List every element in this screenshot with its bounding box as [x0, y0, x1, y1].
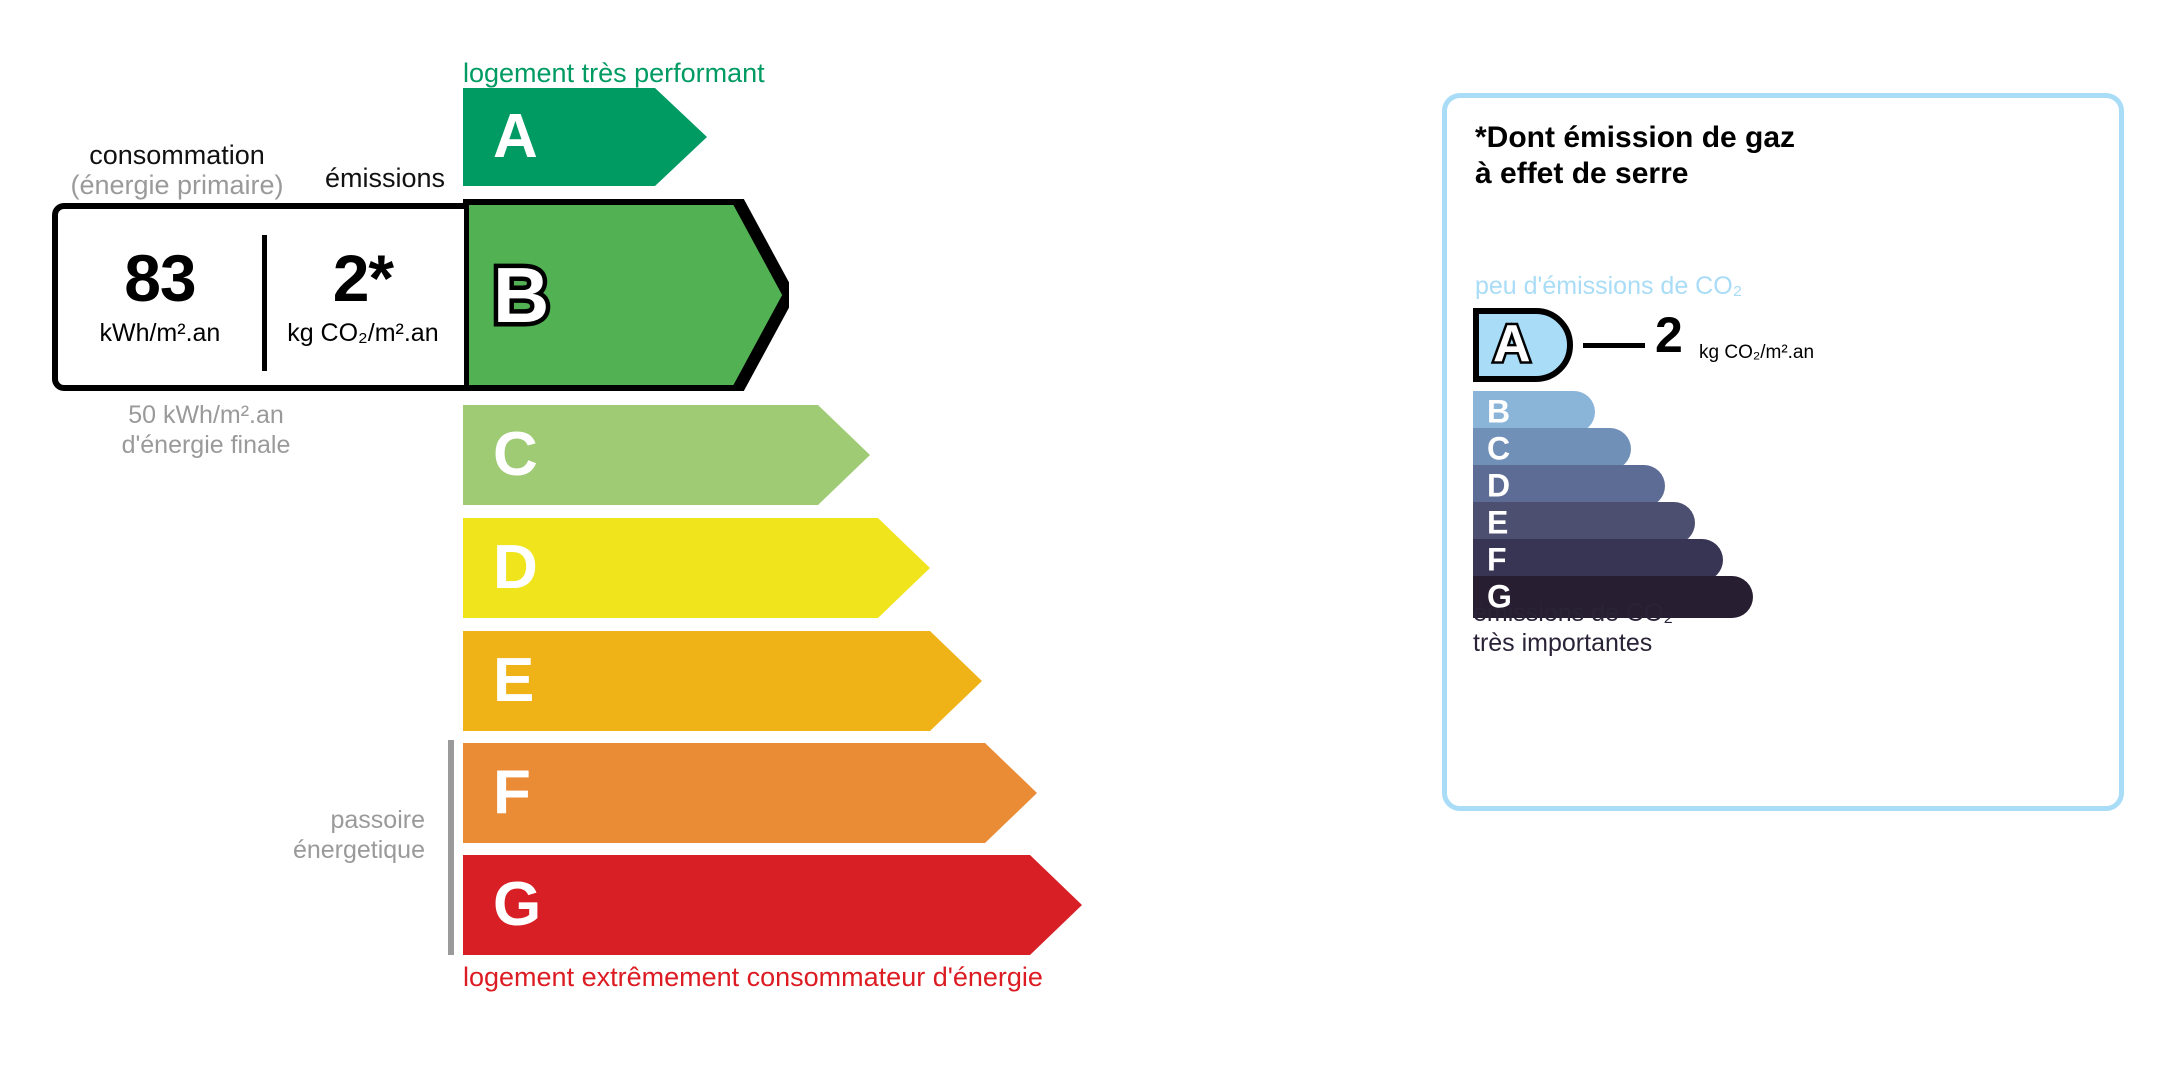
energy-class-letter-g: G	[493, 874, 541, 936]
caption-bottom: logement extrêmement consommateur d'éner…	[463, 962, 1043, 993]
co2-selected-class-letter: A	[1493, 318, 1531, 370]
value-box: 83 kWh/m².an 2* kg CO₂/m².an	[52, 203, 464, 391]
co2-class-bar-d: D	[1473, 465, 1665, 507]
final-energy-note: 50 kWh/m².an d'énergie finale	[56, 400, 356, 460]
co2-value-cell: 2* kg CO₂/m².an	[262, 209, 464, 385]
energy-class-letter-c: C	[493, 424, 538, 486]
energy-class-band-b: B	[463, 199, 789, 391]
energy-class-band-f: F	[463, 743, 1037, 843]
co2-legend-bottom-line2: très importantes	[1473, 628, 1673, 658]
energy-class-letter-d: D	[493, 537, 538, 599]
co2-class-bar-c: C	[1473, 428, 1631, 470]
energy-class-arrow-f	[463, 743, 1037, 843]
energy-class-letter-b: B	[493, 256, 549, 334]
energy-class-letter-a: A	[493, 106, 538, 168]
consumption-header: consommation (énergie primaire)	[52, 140, 302, 200]
energy-unit: kWh/m².an	[99, 319, 220, 348]
co2-panel-title-line1: *Dont émission de gaz	[1475, 120, 1795, 156]
energy-class-arrow-g	[463, 855, 1082, 955]
energy-class-band-g: G	[463, 855, 1082, 955]
co2-class-letter-b: B	[1487, 395, 1510, 427]
passoire-label-line1: passoire	[225, 805, 425, 835]
co2-legend-bottom-line1: émissions de CO₂	[1473, 598, 1673, 628]
passoire-label: passoire énergetique	[225, 805, 425, 865]
emissions-header: émissions	[310, 163, 460, 194]
energy-class-band-e: E	[463, 631, 982, 731]
co2-panel-title-line2: à effet de serre	[1475, 156, 1795, 192]
co2-class-letter-f: F	[1487, 543, 1507, 575]
passoire-label-line2: énergetique	[225, 835, 425, 865]
co2-class-bar-b: B	[1473, 391, 1595, 433]
co2-panel-value: 2	[1655, 310, 1683, 360]
co2-unit: kg CO₂/m².an	[287, 319, 438, 348]
co2-class-bar-e: E	[1473, 502, 1695, 544]
energy-class-arrow-e	[463, 631, 982, 731]
co2-leader-line	[1583, 343, 1645, 348]
co2-class-letter-d: D	[1487, 469, 1510, 501]
co2-class-letter-e: E	[1487, 506, 1508, 538]
energy-value-cell: 83 kWh/m².an	[58, 209, 262, 385]
co2-class-bar-f: F	[1473, 539, 1723, 581]
passoire-bracket	[448, 740, 454, 955]
energy-class-band-a: A	[463, 88, 707, 186]
co2-legend-bottom: émissions de CO₂ très importantes	[1473, 598, 1673, 658]
dpe-energy-label: consommation (énergie primaire) émission…	[0, 0, 1420, 1079]
co2-legend-top: peu d'émissions de CO₂	[1475, 272, 1742, 301]
final-energy-line1: 50 kWh/m².an	[56, 400, 356, 430]
energy-value: 83	[124, 246, 195, 311]
co2-panel-title: *Dont émission de gaz à effet de serre	[1475, 120, 1795, 192]
consumption-header-line1: consommation	[52, 140, 302, 170]
final-energy-line2: d'énergie finale	[56, 430, 356, 460]
co2-value: 2*	[333, 246, 393, 311]
energy-class-band-c: C	[463, 405, 870, 505]
energy-class-letter-e: E	[493, 650, 534, 712]
consumption-header-line2: (énergie primaire)	[52, 170, 302, 200]
energy-class-letter-f: F	[493, 762, 531, 824]
energy-class-band-d: D	[463, 518, 930, 618]
co2-panel-value-unit: kg CO₂/m².an	[1699, 342, 1814, 364]
co2-selected-class-badge: A	[1473, 308, 1573, 382]
caption-top: logement très performant	[463, 58, 765, 89]
greenhouse-gas-panel: *Dont émission de gaz à effet de serre p…	[1442, 93, 2124, 811]
co2-class-letter-c: C	[1487, 432, 1510, 464]
